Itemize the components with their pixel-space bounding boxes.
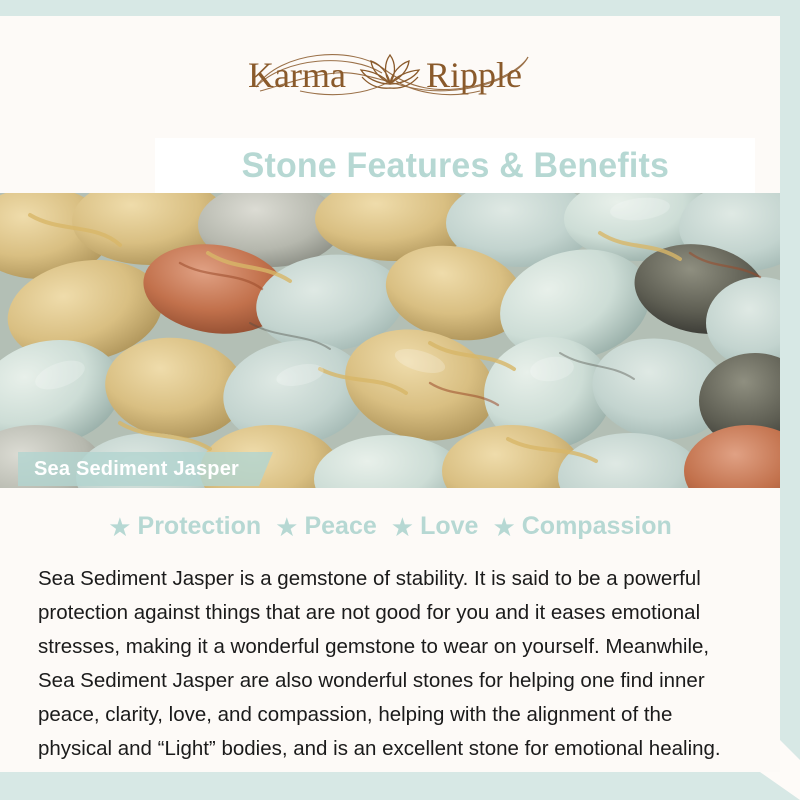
brand-logo: Karma Ripple [0, 34, 780, 116]
stone-photo [0, 193, 780, 488]
photo-caption-label: Sea Sediment Jasper [34, 458, 239, 481]
brand-word-right: Ripple [426, 55, 522, 95]
description-paragraph: Sea Sediment Jasper is a gemstone of sta… [38, 562, 748, 766]
lotus-icon: Karma Ripple [240, 43, 540, 107]
photo-caption-badge: Sea Sediment Jasper [18, 452, 273, 486]
border-band-right [780, 0, 800, 760]
keyword-label: Protection [138, 512, 262, 541]
border-band-top [0, 0, 800, 16]
star-icon: ★ [275, 514, 298, 540]
border-band-bottom [0, 772, 800, 800]
page-title: Stone Features & Benefits [241, 146, 668, 186]
keyword-item: ★ Peace [275, 512, 377, 541]
brand-word-left: Karma [248, 55, 346, 95]
keyword-label: Compassion [522, 512, 672, 541]
infographic-page: Karma Ripple Stone Features & Benefits [0, 0, 800, 800]
keyword-item: ★ Compassion [492, 512, 671, 541]
title-banner: Stone Features & Benefits [155, 138, 755, 193]
keyword-item: ★ Protection [108, 512, 261, 541]
keyword-label: Peace [304, 512, 376, 541]
stone-photo-art [0, 193, 780, 488]
keyword-label: Love [420, 512, 478, 541]
star-icon: ★ [108, 514, 131, 540]
keyword-list: ★ Protection ★ Peace ★ Love ★ Compassion [0, 512, 780, 541]
star-icon: ★ [391, 514, 414, 540]
keyword-item: ★ Love [391, 512, 479, 541]
star-icon: ★ [492, 514, 515, 540]
